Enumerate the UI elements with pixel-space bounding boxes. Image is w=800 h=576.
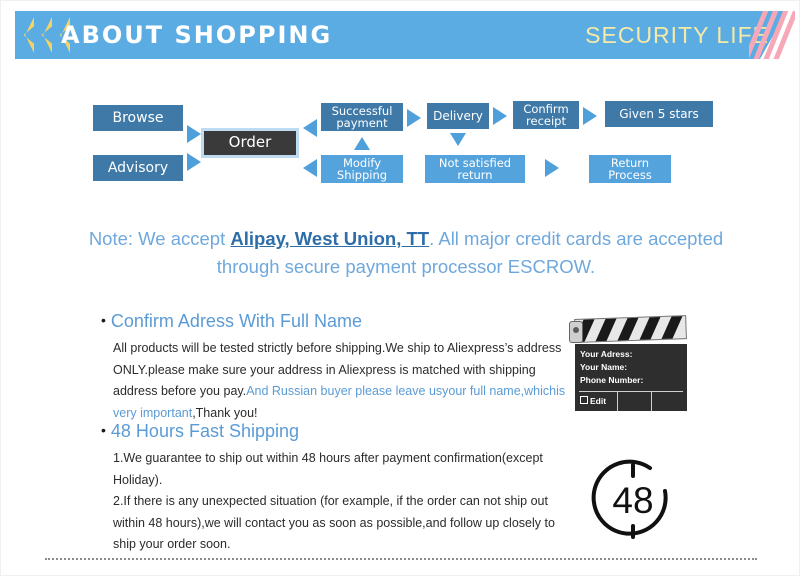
section-body-part: 1.We guarantee to ship out within 48 hou… [113, 448, 571, 491]
clapperboard-hinge [569, 321, 583, 343]
flow-node-modify-shipping: Modify Shipping [321, 155, 403, 183]
section-heading-text: Confirm Adress With Full Name [111, 311, 362, 331]
edit-square-icon [580, 396, 588, 404]
section-body: All products will be tested strictly bef… [113, 338, 571, 424]
clock-badge-value: 48 [587, 459, 679, 543]
clapper-cell-divider [617, 392, 618, 411]
clapper-stripe [635, 315, 663, 343]
clapperboard-body: Your Adress: Your Name: Phone Number: Ed… [575, 344, 687, 411]
edit-text: Edit [590, 396, 606, 406]
bullet-icon: • [101, 312, 106, 328]
arrow-browse-to-order [187, 125, 201, 143]
chevron-left-icon [17, 17, 34, 53]
section-heading: •Confirm Adress With Full Name [101, 311, 571, 332]
arrow-order-to-modify [303, 159, 317, 177]
flow-node-delivery: Delivery [427, 103, 489, 129]
clock-circle-icon: 48 [587, 459, 679, 543]
header-banner: ABOUT SHOPPING SECURITY LIFE [1, 11, 800, 59]
flow-node-given-5-stars: Given 5 stars [605, 101, 713, 127]
section-heading: •48 Hours Fast Shipping [101, 421, 571, 442]
arrow-advisory-to-order [187, 153, 201, 171]
page-root: ABOUT SHOPPING SECURITY LIFE Browse Advi… [0, 0, 800, 576]
arrow-delivery-to-notsatisfied [450, 133, 466, 146]
clapper-cell-divider [651, 392, 652, 411]
arrow-confirm-to-stars [583, 107, 597, 125]
clapper-divider [579, 391, 683, 392]
clapper-line-name: Your Name: [580, 361, 682, 374]
flow-node-confirm-receipt: Confirm receipt [513, 101, 579, 129]
arrow-order-to-successful [303, 119, 317, 137]
flow-node-return-process: Return Process [589, 155, 671, 183]
clapper-stripe [591, 315, 619, 343]
arrow-modify-to-successful [354, 137, 370, 150]
order-flowchart: Browse Advisory Order Successful payment… [1, 93, 800, 198]
header-tagline: SECURITY LIFE [585, 11, 769, 59]
payment-note: Note: We accept Alipay, West Union, TT. … [61, 225, 751, 281]
clapperboard-top-bar [574, 315, 687, 343]
arrow-delivery-to-confirm [493, 107, 507, 125]
arrow-successful-to-delivery [407, 109, 421, 127]
bottom-divider [45, 558, 757, 560]
note-emphasis: Alipay, West Union, TT [230, 228, 429, 249]
flow-node-successful-payment: Successful payment [321, 103, 403, 131]
note-prefix: Note: We accept [89, 228, 231, 249]
clapper-stripe [613, 315, 641, 343]
flow-node-order: Order [201, 128, 299, 158]
flow-node-advisory: Advisory [93, 155, 183, 181]
bullet-icon: • [101, 422, 106, 438]
clapper-line-address: Your Adress: [580, 348, 682, 361]
flow-node-browse: Browse [93, 105, 183, 131]
section-48-hours-shipping: •48 Hours Fast Shipping 1.We guarantee t… [101, 421, 571, 556]
page-title: ABOUT SHOPPING [61, 11, 332, 59]
clapper-stripe [657, 315, 685, 343]
arrow-notsatisfied-to-return [545, 159, 559, 177]
chevron-left-icon [35, 17, 52, 53]
diagonal-stripes-icon [749, 11, 795, 59]
clapperboard-icon: Your Adress: Your Name: Phone Number: Ed… [569, 319, 687, 411]
section-body-part: ,Thank you! [192, 406, 257, 420]
clapper-line-phone-number: Phone Number: [580, 374, 682, 387]
section-heading-text: 48 Hours Fast Shipping [111, 421, 299, 441]
section-body: 1.We guarantee to ship out within 48 hou… [113, 448, 571, 556]
flow-node-not-satisfied-return: Not satisfied return [425, 155, 525, 183]
section-confirm-address: •Confirm Adress With Full Name All produ… [101, 311, 571, 424]
section-body-part: 2.If there is any unexpected situation (… [113, 491, 571, 556]
clapper-edit-label: Edit [580, 395, 606, 408]
